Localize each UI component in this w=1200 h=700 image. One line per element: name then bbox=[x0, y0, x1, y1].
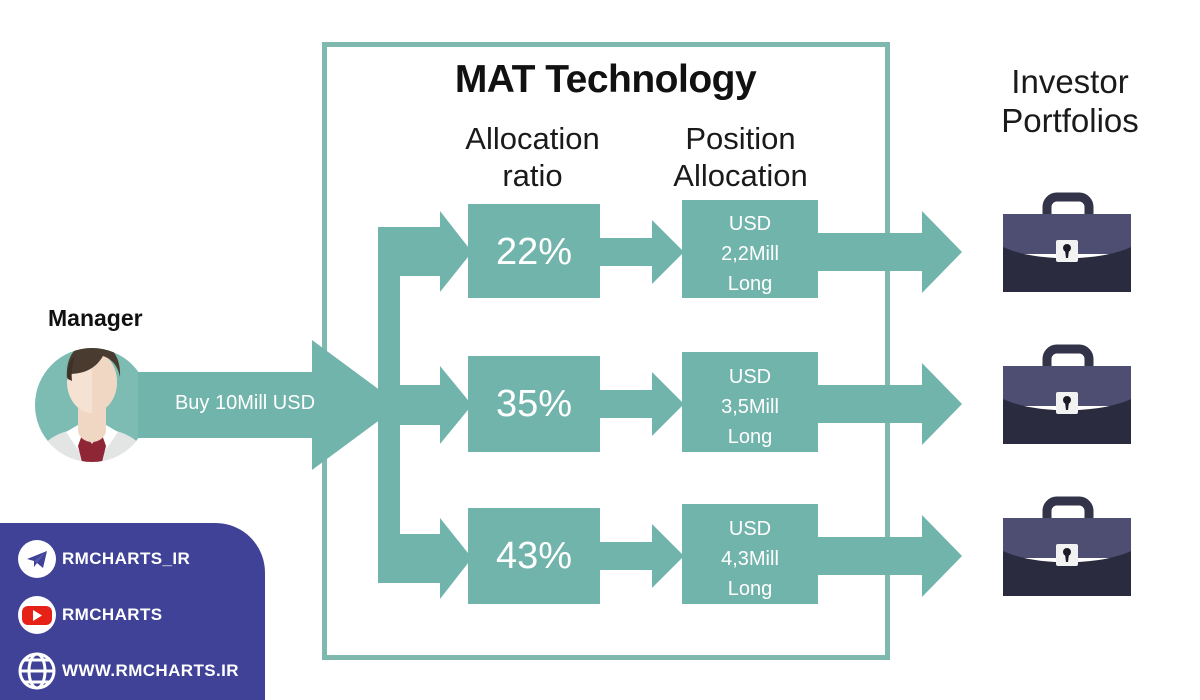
distribution-trunk bbox=[378, 235, 400, 575]
branch-arrow-2 bbox=[400, 366, 472, 444]
manager-avatar bbox=[35, 343, 149, 486]
position-arrow-3 bbox=[600, 524, 684, 588]
briefcase-icon-1 bbox=[1003, 197, 1131, 292]
order-flow-label: Buy 10Mill USD bbox=[150, 392, 340, 415]
manager-label: Manager bbox=[48, 305, 198, 332]
diagram-canvas: MAT Technology Allocationratio PositionA… bbox=[0, 0, 1200, 700]
branding-label-telegram[interactable]: RMCHARTS_IR bbox=[62, 549, 190, 569]
position-allocation-value-3: USD4,3MillLong bbox=[682, 514, 818, 604]
page-title: MAT Technology bbox=[322, 58, 889, 102]
position-arrow-2 bbox=[600, 372, 684, 436]
column-header-position-allocation: PositionAllocation bbox=[648, 120, 833, 194]
telegram-icon[interactable] bbox=[18, 540, 56, 578]
position-arrow-1 bbox=[600, 220, 684, 284]
branding-label-website[interactable]: WWW.RMCHARTS.IR bbox=[62, 661, 239, 681]
investor-portfolios-title: InvestorPortfolios bbox=[950, 62, 1190, 140]
youtube-icon[interactable] bbox=[18, 596, 56, 634]
briefcase-icon-2 bbox=[1003, 349, 1131, 444]
column-header-allocation-ratio: Allocationratio bbox=[430, 120, 635, 194]
position-allocation-value-2: USD3,5MillLong bbox=[682, 362, 818, 452]
briefcase-icon-3 bbox=[1003, 501, 1131, 596]
allocation-ratio-value-1: 22% bbox=[468, 231, 600, 274]
branding-label-youtube[interactable]: RMCHARTS bbox=[62, 605, 162, 625]
allocation-ratio-value-3: 43% bbox=[468, 535, 600, 578]
globe-icon[interactable] bbox=[20, 654, 54, 688]
allocation-ratio-value-2: 35% bbox=[468, 383, 600, 426]
position-allocation-value-1: USD2,2MillLong bbox=[682, 209, 818, 299]
